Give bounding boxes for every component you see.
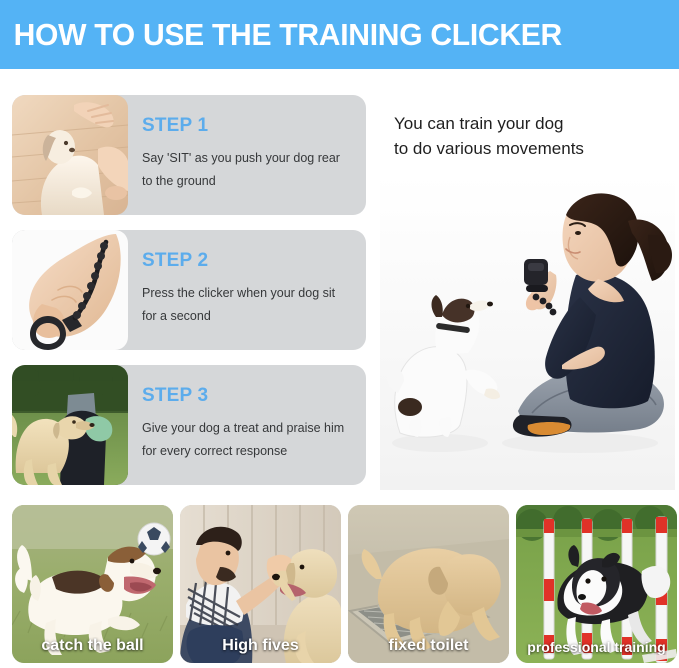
step-card-2[interactable]: STEP 2 Press the clicker when your dog s… <box>12 230 366 350</box>
beagle-catching-ball-photo[interactable]: catch the ball <box>12 505 173 663</box>
step-2-body: STEP 2 Press the clicker when your dog s… <box>142 250 356 328</box>
right-column: You can train your dog to do various mov… <box>380 95 670 161</box>
gallery-caption-3: fixed toilet <box>348 637 509 655</box>
step-1-body: STEP 1 Say 'SIT' as you push your dog re… <box>142 115 356 193</box>
step-2-title: STEP 2 <box>142 250 356 272</box>
step-card-3[interactable]: STEP 3 Give your dog a treat and praise … <box>12 365 366 485</box>
hand-pushing-dog-rear-photo <box>12 95 128 215</box>
right-panel-heading: You can train your dog to do various mov… <box>394 112 670 161</box>
gallery-caption-4: professional training <box>516 639 677 655</box>
page-title: HOW TO USE THE TRAINING CLICKER <box>0 17 562 53</box>
step-card-1[interactable]: STEP 1 Say 'SIT' as you push your dog re… <box>12 95 366 215</box>
step-1-title: STEP 1 <box>142 115 356 137</box>
step-3-title: STEP 3 <box>142 385 356 407</box>
header-banner: HOW TO USE THE TRAINING CLICKER <box>0 0 679 69</box>
step-2-description: Press the clicker when your dog sit for … <box>142 282 347 328</box>
border-collie-weave-poles-photo[interactable]: professional training <box>516 505 677 663</box>
dog-on-potty-tray-photo[interactable]: fixed toilet <box>348 505 509 663</box>
man-high-fiving-labrador-photo[interactable]: High fives <box>180 505 341 663</box>
steps-column: STEP 1 Say 'SIT' as you push your dog re… <box>12 95 366 500</box>
woman-training-dog-with-clicker-photo <box>380 175 675 490</box>
dog-taking-treat-photo <box>12 365 128 485</box>
gallery-caption-2: High fives <box>180 637 341 655</box>
step-3-body: STEP 3 Give your dog a treat and praise … <box>142 385 356 463</box>
step-1-description: Say 'SIT' as you push your dog rear to t… <box>142 147 347 193</box>
gallery-caption-1: catch the ball <box>12 637 173 655</box>
step-3-description: Give your dog a treat and praise him for… <box>142 417 347 463</box>
hand-holding-clicker-photo <box>12 230 128 350</box>
gallery-row: catch the ball <box>12 505 667 663</box>
